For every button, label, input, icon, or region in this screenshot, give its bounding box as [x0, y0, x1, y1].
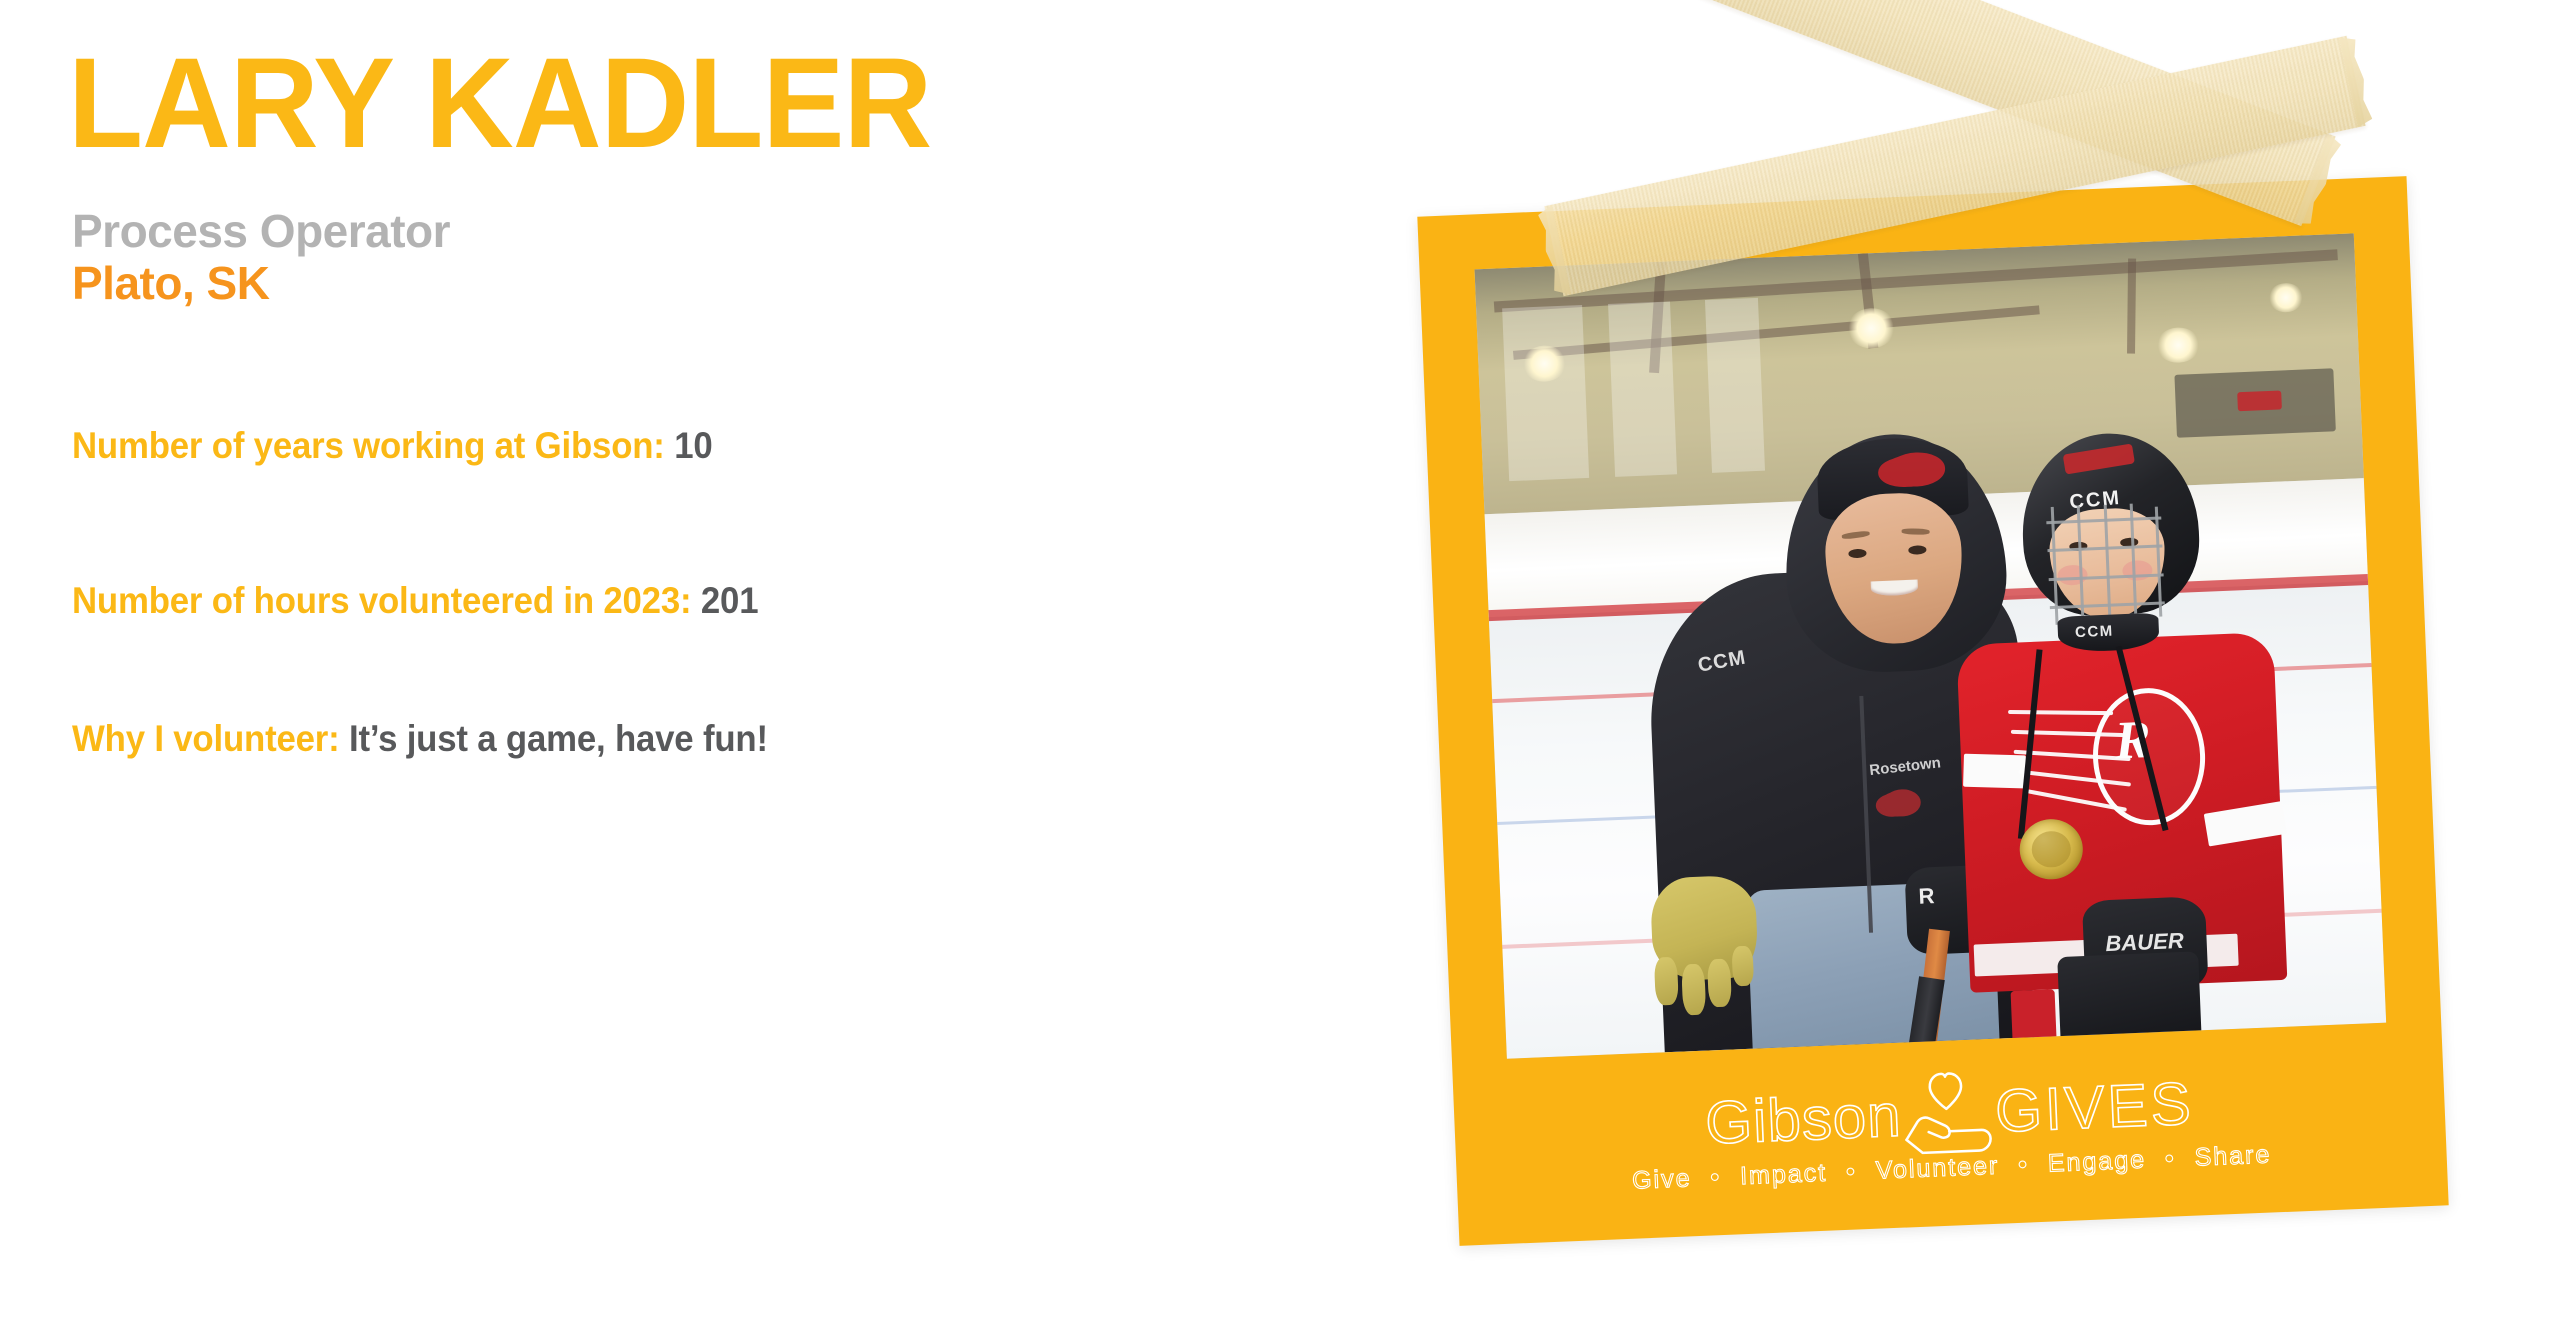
fact-years-at-gibson: Number of years working at Gibson: 10: [72, 425, 713, 467]
gibson-gives-logo: Gibson GIVES Give • Impact •: [1453, 1041, 2449, 1245]
profile-location: Plato, SK: [72, 258, 1408, 310]
glove-finger: [1681, 964, 1706, 1016]
tagline-item: Impact: [1740, 1159, 1828, 1191]
fact-label: Why I volunteer:: [72, 718, 340, 759]
fact-value: 10: [674, 425, 712, 466]
fact-label: Number of hours volunteered in 2023:: [72, 580, 691, 621]
glove-finger: [1707, 959, 1732, 1007]
tagline-item: Engage: [2047, 1146, 2146, 1178]
tagline-item: Volunteer: [1875, 1152, 2000, 1185]
fact-value: It’s just a game, have fun!: [349, 718, 768, 759]
scoreboard-light: [2237, 391, 2282, 412]
tagline-separator: •: [1700, 1163, 1732, 1192]
brand-word-gives: GIVES: [1994, 1068, 2195, 1145]
adult-eyebrow: [1902, 528, 1930, 534]
arena-wall-panel: [1608, 301, 1677, 477]
crest-wing-line: [2008, 710, 2113, 715]
photo-scene: CCM Rosetown R: [1475, 233, 2387, 1058]
tagline-separator: •: [1835, 1157, 1867, 1186]
child-sock: [2011, 989, 2058, 1054]
polaroid-photo-card: CCM Rosetown R: [1417, 176, 2448, 1246]
fact-hours-volunteered: Number of hours volunteered in 2023: 201: [72, 580, 758, 622]
fact-value: 201: [701, 580, 758, 621]
rink-photograph: CCM Rosetown R: [1475, 233, 2387, 1058]
slide-canvas: LARY KADLER Process Operator Plato, SK N…: [0, 0, 2560, 1337]
ceiling-beam: [2127, 258, 2136, 353]
glove-letter-text: R: [1918, 883, 1935, 910]
tagline-item: Share: [2194, 1141, 2272, 1172]
fact-why-i-volunteer: Why I volunteer: It’s just a game, have …: [72, 718, 768, 760]
glove-finger: [1731, 946, 1754, 986]
tagline-separator: •: [2008, 1150, 2040, 1179]
fact-label: Number of years working at Gibson:: [72, 425, 665, 466]
glove-finger: [1654, 957, 1679, 1005]
page-title: LARY KADLER: [68, 40, 1354, 168]
profile-text-column: LARY KADLER Process Operator Plato, SK: [68, 40, 1408, 309]
tagline-separator: •: [2154, 1144, 2186, 1173]
arena-wall-panel: [1502, 305, 1588, 482]
polaroid-frame: CCM Rosetown R: [1417, 176, 2448, 1246]
arena-wall-panel: [1705, 297, 1765, 473]
brand-word-gibson: Gibson: [1704, 1080, 1903, 1157]
child-hockey-pants: [2058, 951, 2203, 1051]
heart-in-hand-icon: [1886, 1067, 2007, 1158]
profile-role: Process Operator: [72, 206, 1408, 258]
chin-brand-text: CCM: [2075, 623, 2114, 642]
adult-eye: [1908, 545, 1927, 554]
tagline-item: Give: [1632, 1164, 1693, 1194]
